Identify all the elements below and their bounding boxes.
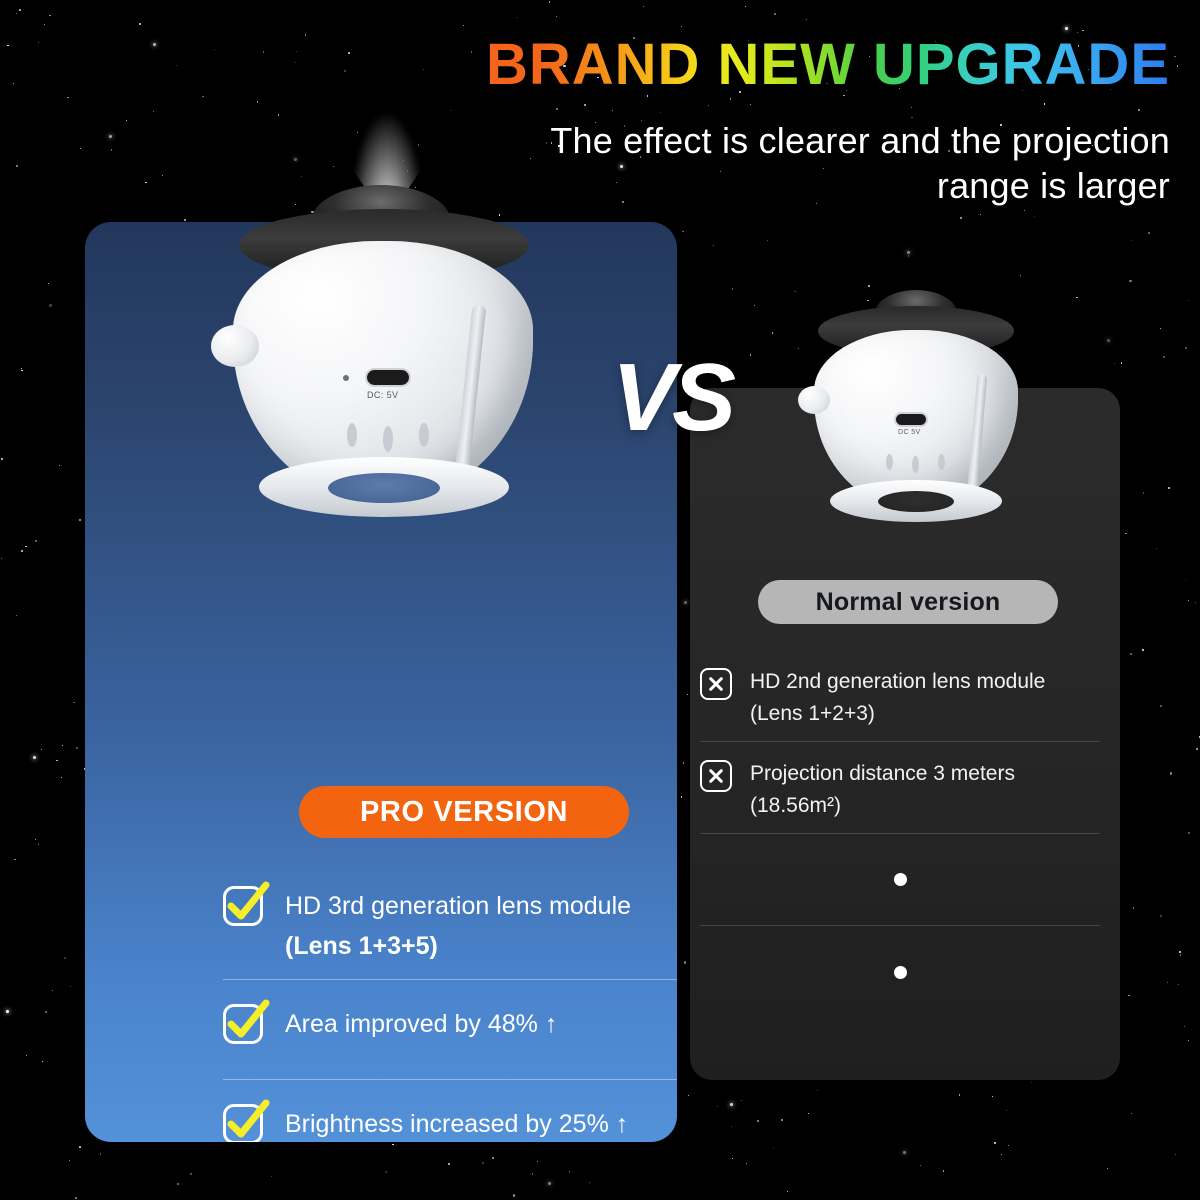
list-item-label: Area improved by 48% ↑	[285, 1010, 557, 1038]
pro-projector-device: DC: 5V	[215, 185, 545, 525]
versus-label: VS	[612, 350, 732, 446]
list-item	[700, 834, 1100, 926]
list-item-label: Brightness increased by 25% ↑	[285, 1110, 628, 1138]
list-item: Brightness increased by 25% ↑	[223, 1080, 677, 1143]
list-item-text: Brightness increased by 25% ↑	[285, 1094, 628, 1142]
normal-feature-list: HD 2nd generation lens module (Lens 1+2+…	[700, 650, 1100, 1018]
pro-version-badge-label: PRO VERSION	[360, 796, 568, 829]
vent-hole	[383, 426, 393, 452]
list-item-label: HD 2nd generation lens module	[750, 670, 1045, 693]
stand-base-opening	[878, 491, 954, 512]
port-label: DC: 5V	[367, 390, 398, 400]
list-item-sublabel: (Lens 1+3+5)	[285, 928, 631, 964]
vent-hole	[886, 454, 893, 470]
normal-version-badge: Normal version	[758, 580, 1058, 624]
vent-hole	[419, 423, 429, 447]
list-item-text: Projection distance 3 meters (18.56m²)	[750, 752, 1015, 821]
dot-placeholder-icon	[894, 873, 907, 886]
normal-projector-device: DC 5V	[800, 290, 1030, 535]
list-item	[700, 926, 1100, 1018]
list-item-text: HD 2nd generation lens module (Lens 1+2+…	[750, 660, 1045, 729]
usb-c-port	[367, 370, 409, 385]
check-icon	[223, 886, 263, 926]
x-icon	[700, 760, 732, 792]
port-label: DC 5V	[898, 429, 921, 436]
list-item: Projection distance 3 meters (18.56m²)	[700, 742, 1100, 834]
page-subtitle: The effect is clearer and the projection…	[470, 118, 1170, 209]
projector-side-knob	[798, 386, 830, 414]
check-icon	[223, 1004, 263, 1044]
infographic-stage: PRO VERSION HD 3rd generation lens modul…	[0, 0, 1200, 1200]
vent-hole	[938, 454, 945, 470]
pro-version-badge: PRO VERSION	[299, 786, 629, 838]
normal-version-badge-label: Normal version	[816, 588, 1001, 617]
stand-base-opening	[328, 473, 440, 503]
vent-hole	[347, 423, 357, 447]
list-item-sublabel: (Lens 1+2+3)	[750, 698, 1045, 730]
list-item: Area improved by 48% ↑	[223, 980, 677, 1080]
indicator-dot	[343, 375, 349, 381]
x-icon	[700, 668, 732, 700]
list-item: HD 3rd generation lens module (Lens 1+3+…	[223, 862, 677, 980]
vent-hole	[912, 456, 919, 473]
projector-side-knob	[211, 325, 259, 367]
list-item-text: HD 3rd generation lens module (Lens 1+3+…	[285, 876, 631, 965]
list-item-text: Area improved by 48% ↑	[285, 994, 557, 1042]
check-icon	[223, 1104, 263, 1143]
list-item-sublabel: (18.56m²)	[750, 790, 1015, 822]
usb-c-port	[896, 414, 926, 425]
list-item-label: HD 3rd generation lens module	[285, 892, 631, 920]
list-item-label: Projection distance 3 meters	[750, 762, 1015, 785]
list-item: HD 2nd generation lens module (Lens 1+2+…	[700, 650, 1100, 742]
dot-placeholder-icon	[894, 966, 907, 979]
page-title: BRAND NEW UPGRADE	[480, 36, 1170, 94]
pro-feature-list: HD 3rd generation lens module (Lens 1+3+…	[223, 862, 677, 1142]
